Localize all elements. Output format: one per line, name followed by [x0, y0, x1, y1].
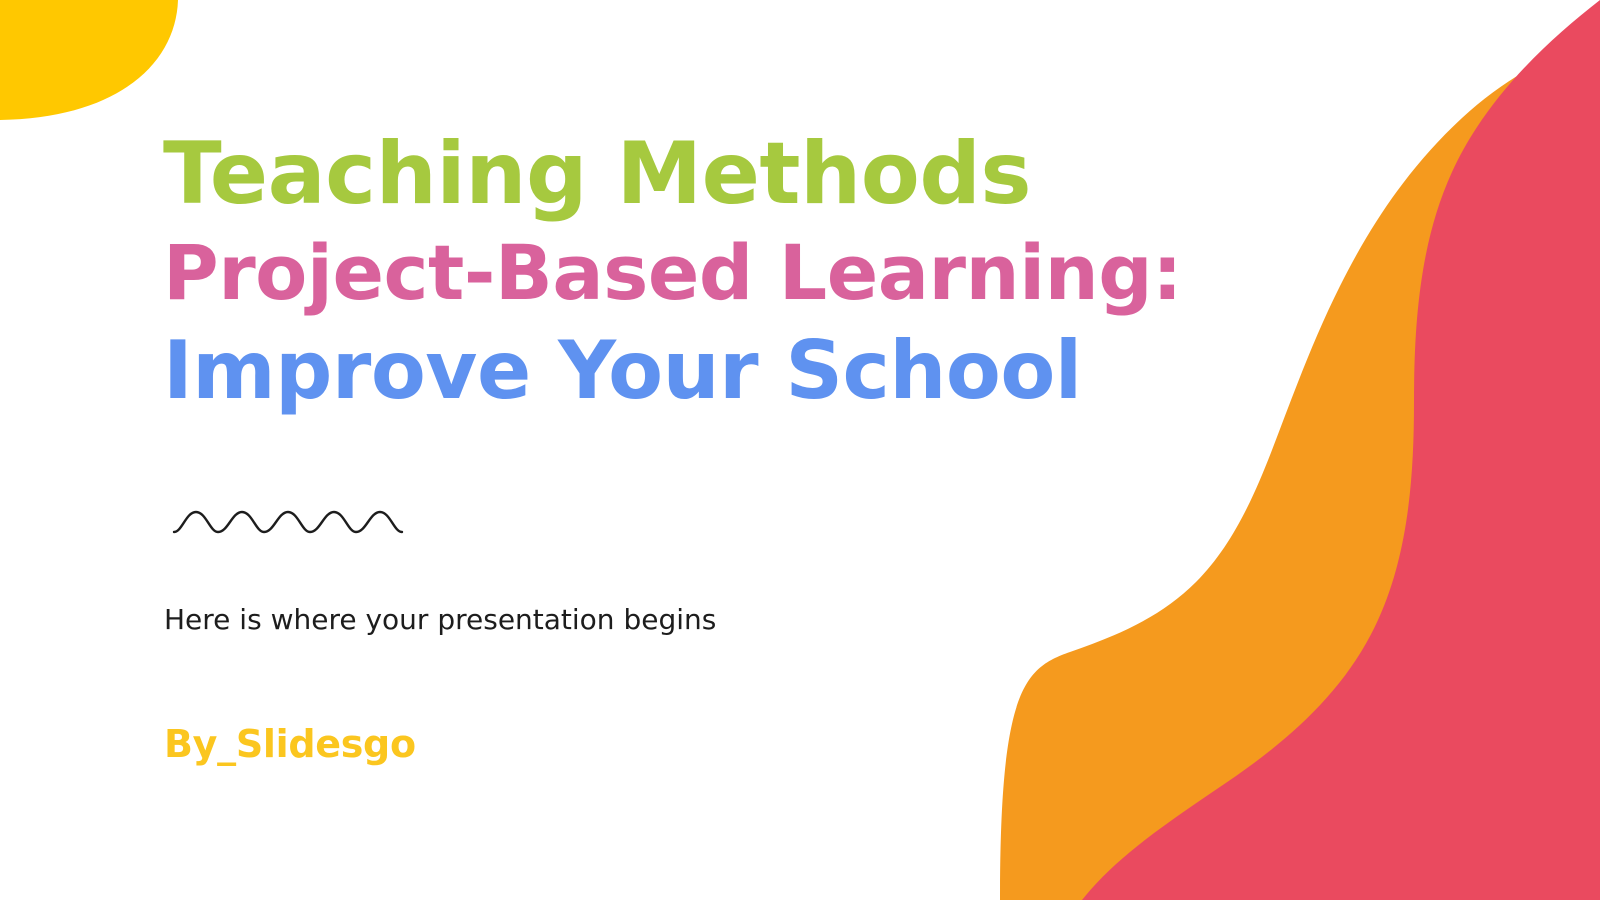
wavy-line-icon [172, 498, 412, 546]
wavy-squiggle-divider [172, 498, 412, 546]
slide-content: Teaching Methods Project-Based Learning:… [0, 0, 1600, 900]
presentation-slide: Teaching Methods Project-Based Learning:… [0, 0, 1600, 900]
title-line-3: Improve Your School [163, 321, 1173, 421]
slide-subtitle: Here is where your presentation begins [164, 600, 716, 640]
title-line-2: Project-Based Learning: [163, 225, 1173, 321]
slide-title-block: Teaching Methods Project-Based Learning:… [163, 123, 1173, 421]
slide-byline: By_Slidesgo [164, 718, 416, 770]
title-line-1: Teaching Methods [163, 123, 1173, 225]
